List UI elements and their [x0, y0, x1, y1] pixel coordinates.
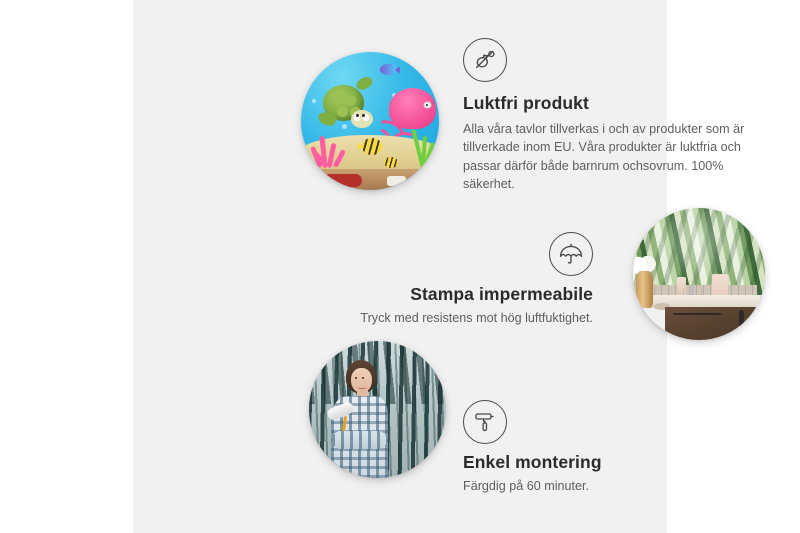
product-feature-banner: Luktfri produkt Alla våra tavlor tillver…: [0, 0, 800, 533]
small-fish-icon: [384, 157, 398, 168]
wood-vanity-cabinet: [665, 307, 765, 340]
seaweed: [414, 129, 431, 168]
feature-image-bathroom-tropical-leaf-wallpaper[interactable]: [633, 208, 765, 340]
purple-fish-icon: [380, 64, 397, 75]
bubble-icon: [312, 99, 316, 103]
no-fragrance-icon: [463, 38, 507, 82]
content-panel: Luktfri produkt Alla våra tavlor tillver…: [133, 0, 667, 533]
feature-description: Färgdig på 60 minuter.: [463, 477, 733, 495]
underwater-illustration: [301, 52, 439, 190]
bathroom-photo: [633, 208, 765, 340]
octopus-eye: [425, 103, 430, 108]
gold-vase: [636, 271, 653, 308]
pink-coral: [312, 132, 348, 168]
woman-smile: [357, 385, 367, 389]
feature-description: Alla våra tavlor tillverkas i och av pro…: [463, 120, 763, 193]
paint-roller-icon: [463, 400, 507, 444]
umbrella-icon: [549, 232, 593, 276]
feature-description: Tryck med resistens mot hög luftfuktighe…: [333, 309, 593, 327]
feature-title: Luktfri produkt: [463, 93, 763, 114]
feature-image-woman-with-paint-roller-forest-mural[interactable]: [309, 341, 446, 478]
feature-image-underwater-kids-wall-mural[interactable]: [301, 52, 439, 190]
feature-block-odour-free: Luktfri produkt Alla våra tavlor tillver…: [463, 38, 763, 193]
room-foreground-strip: [301, 169, 439, 190]
feature-title: Stampa impermeabile: [333, 284, 593, 305]
feature-title: Enkel montering: [463, 452, 733, 473]
feature-block-easy-installation: Enkel montering Färgdig på 60 minuter.: [463, 400, 733, 495]
installer-photo: [309, 341, 446, 478]
feature-block-waterproof-print: Stampa impermeabile Tryck med resistens …: [333, 232, 593, 327]
folded-arms: [332, 431, 387, 449]
turtle-head: [351, 110, 373, 128]
